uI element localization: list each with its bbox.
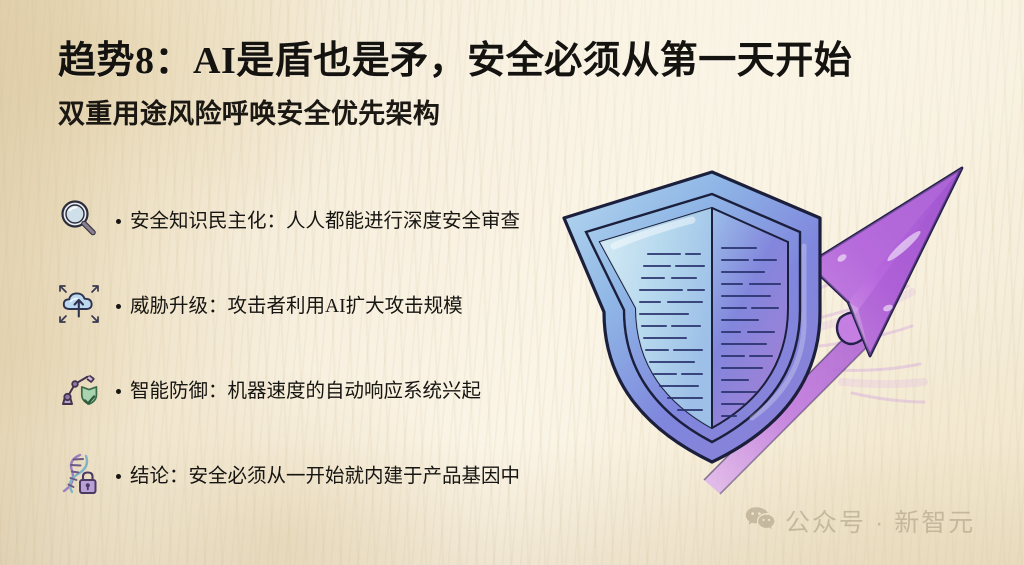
shield-and-spear-illustration (552, 150, 1022, 500)
list-item-text: 结论：安全必须从一开始就内建于产品基因中 (130, 466, 520, 487)
list-item: 安全知识民主化：人人都能进行深度安全审查 (52, 176, 572, 261)
list-item-text: 智能防御：机器速度的自动响应系统兴起 (130, 381, 481, 402)
list-item-label: 威胁升级：攻击者利用AI扩大攻击规模 (116, 289, 463, 318)
list-item: 威胁升级：攻击者利用AI扩大攻击规模 (52, 261, 572, 346)
wechat-icon (745, 506, 775, 537)
list-item-label: 安全知识民主化：人人都能进行深度安全审查 (116, 204, 520, 233)
watermark: 公众号 · 新智元 (745, 503, 975, 539)
dna-lock-icon (52, 448, 106, 500)
bullet-dot (116, 219, 121, 224)
list-item-label: 结论：安全必须从一开始就内建于产品基因中 (116, 459, 520, 488)
list-item: 结论：安全必须从一开始就内建于产品基因中 (52, 431, 572, 516)
bullet-list: 安全知识民主化：人人都能进行深度安全审查 (52, 176, 572, 516)
robot-arm-shield-icon (52, 363, 106, 415)
page-title: 趋势8：AI是盾也是矛，安全必须从第一天开始 (58, 40, 852, 83)
list-item-text: 威胁升级：攻击者利用AI扩大攻击规模 (130, 296, 463, 317)
page-subtitle: 双重用途风险呼唤安全优先架构 (58, 98, 440, 130)
bullet-dot (116, 474, 121, 479)
bullet-dot (116, 389, 121, 394)
bullet-dot (116, 304, 121, 309)
slide-canvas: 趋势8：AI是盾也是矛，安全必须从第一天开始 双重用途风险呼唤安全优先架构 安全… (0, 0, 1024, 565)
list-item-label: 智能防御：机器速度的自动响应系统兴起 (116, 374, 481, 403)
list-item: 智能防御：机器速度的自动响应系统兴起 (52, 346, 572, 431)
cloud-expand-icon (52, 278, 106, 330)
list-item-text: 安全知识民主化：人人都能进行深度安全审查 (130, 211, 520, 232)
magnifier-icon (52, 193, 106, 245)
watermark-label: 公众号 · 新智元 (785, 503, 975, 539)
